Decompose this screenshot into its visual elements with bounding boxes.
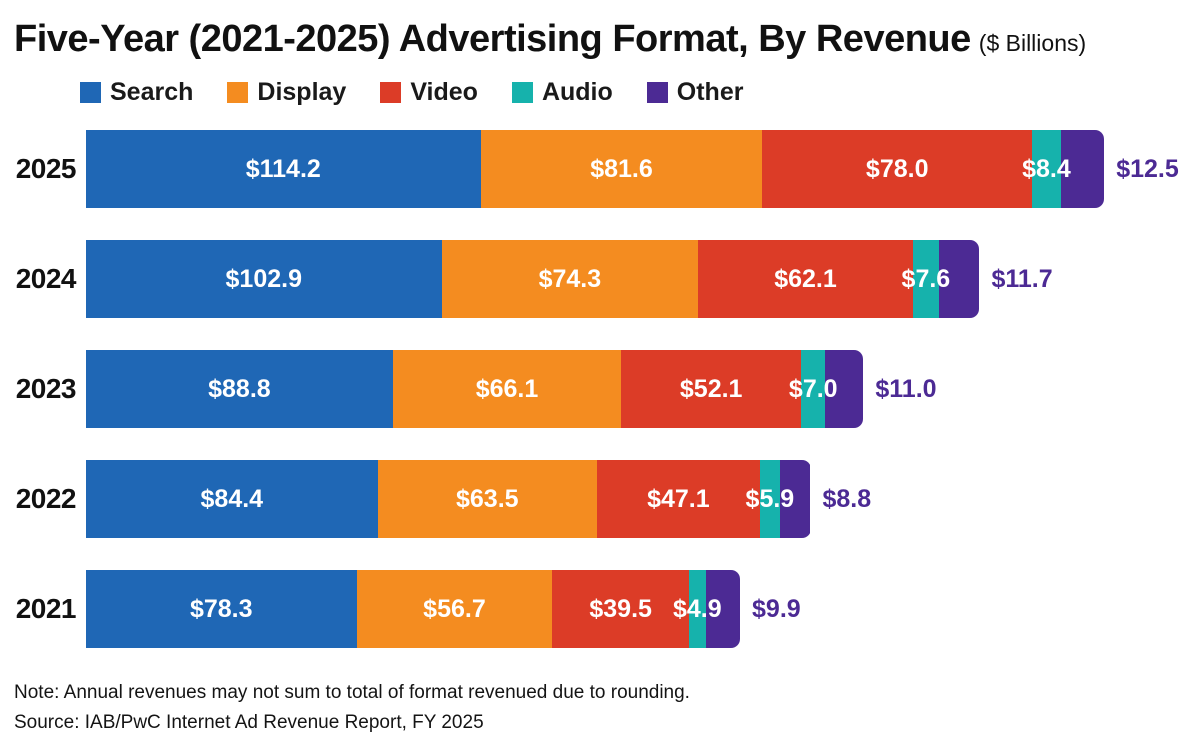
bar-segment-2025-search[interactable]: $114.2: [86, 130, 481, 208]
legend-label: Video: [410, 80, 478, 105]
other-value-label-2021: $9.9: [752, 570, 801, 648]
stacked-bar-2023[interactable]: $88.8$66.1$52.1$7.0: [86, 350, 863, 428]
legend-item-display[interactable]: Display: [227, 80, 346, 105]
legend-label: Other: [677, 80, 744, 105]
legend-swatch-search-icon: [80, 82, 101, 103]
bar-segment-2021-video[interactable]: $39.5: [552, 570, 688, 648]
chart-row-2022: 2022$84.4$63.5$47.1$5.9$8.8: [0, 460, 1200, 538]
bar-segment-2022-audio[interactable]: $5.9: [760, 460, 780, 538]
segment-value-label: $84.4: [201, 487, 264, 512]
bar-segment-2024-video[interactable]: $62.1: [698, 240, 913, 318]
title-main: Five-Year (2021-2025) Advertising Format…: [14, 18, 971, 61]
bar-segment-2021-display[interactable]: $56.7: [357, 570, 553, 648]
other-value-label-2023: $11.0: [875, 350, 936, 428]
bar-segment-2025-display[interactable]: $81.6: [481, 130, 763, 208]
bar-segment-2022-search[interactable]: $84.4: [86, 460, 378, 538]
chart-row-2023: 2023$88.8$66.1$52.1$7.0$11.0: [0, 350, 1200, 428]
segment-value-label: $56.7: [423, 597, 486, 622]
year-label-2025: 2025: [0, 130, 76, 208]
segment-value-label: $4.9: [673, 597, 722, 622]
title-unit: ($ Billions): [979, 30, 1086, 57]
legend-item-audio[interactable]: Audio: [512, 80, 613, 105]
segment-value-label: $62.1: [774, 267, 837, 292]
segment-value-label: $66.1: [476, 377, 539, 402]
legend-item-video[interactable]: Video: [380, 80, 478, 105]
chart-legend: SearchDisplayVideoAudioOther: [80, 80, 743, 105]
page-title: Five-Year (2021-2025) Advertising Format…: [14, 18, 1194, 61]
segment-value-label: $81.6: [590, 157, 653, 182]
segment-value-label: $78.0: [866, 157, 929, 182]
bar-segment-2021-audio[interactable]: $4.9: [689, 570, 706, 648]
legend-label: Display: [257, 80, 346, 105]
segment-value-label: $114.2: [246, 157, 321, 182]
chart-row-2021: 2021$78.3$56.7$39.5$4.9$9.9: [0, 570, 1200, 648]
stacked-bar-2022[interactable]: $84.4$63.5$47.1$5.9: [86, 460, 811, 538]
legend-item-search[interactable]: Search: [80, 80, 193, 105]
segment-value-label: $47.1: [647, 487, 710, 512]
footnote-note: Note: Annual revenues may not sum to tot…: [14, 678, 1114, 708]
bar-segment-2021-search[interactable]: $78.3: [86, 570, 357, 648]
legend-swatch-other-icon: [647, 82, 668, 103]
bar-segment-2024-display[interactable]: $74.3: [442, 240, 699, 318]
bar-segment-2022-display[interactable]: $63.5: [378, 460, 597, 538]
segment-value-label: $63.5: [456, 487, 519, 512]
year-label-2023: 2023: [0, 350, 76, 428]
segment-value-label: $7.0: [789, 377, 838, 402]
segment-value-label: $39.5: [589, 597, 652, 622]
bar-segment-2022-video[interactable]: $47.1: [597, 460, 760, 538]
stacked-bar-2024[interactable]: $102.9$74.3$62.1$7.6: [86, 240, 979, 318]
bar-segment-2024-search[interactable]: $102.9: [86, 240, 442, 318]
segment-value-label: $88.8: [208, 377, 271, 402]
legend-label: Search: [110, 80, 193, 105]
bar-segment-2023-audio[interactable]: $7.0: [801, 350, 825, 428]
segment-value-label: $78.3: [190, 597, 253, 622]
stacked-bar-2025[interactable]: $114.2$81.6$78.0$8.4: [86, 130, 1104, 208]
segment-value-label: $74.3: [539, 267, 602, 292]
legend-swatch-video-icon: [380, 82, 401, 103]
segment-value-label: $102.9: [226, 267, 302, 292]
bar-segment-2023-display[interactable]: $66.1: [393, 350, 621, 428]
chart-row-2025: 2025$114.2$81.6$78.0$8.4$12.5: [0, 130, 1200, 208]
year-label-2024: 2024: [0, 240, 76, 318]
segment-value-label: $52.1: [680, 377, 743, 402]
bar-segment-2025-audio[interactable]: $8.4: [1032, 130, 1061, 208]
legend-item-other[interactable]: Other: [647, 80, 744, 105]
other-value-label-2025: $12.5: [1116, 130, 1179, 208]
legend-swatch-display-icon: [227, 82, 248, 103]
segment-value-label: $8.4: [1022, 157, 1071, 182]
segment-value-label: $7.6: [902, 267, 951, 292]
stacked-bar-chart: 2025$114.2$81.6$78.0$8.4$12.52024$102.9$…: [0, 130, 1200, 670]
legend-swatch-audio-icon: [512, 82, 533, 103]
bar-segment-2024-audio[interactable]: $7.6: [913, 240, 939, 318]
bar-segment-2023-search[interactable]: $88.8: [86, 350, 393, 428]
other-value-label-2022: $8.8: [823, 460, 872, 538]
year-label-2021: 2021: [0, 570, 76, 648]
bar-segment-2025-video[interactable]: $78.0: [762, 130, 1031, 208]
chart-footnotes: Note: Annual revenues may not sum to tot…: [14, 678, 1114, 738]
footnote-source: Source: IAB/PwC Internet Ad Revenue Repo…: [14, 708, 1114, 738]
year-label-2022: 2022: [0, 460, 76, 538]
bar-segment-2023-video[interactable]: $52.1: [621, 350, 801, 428]
segment-value-label: $5.9: [746, 487, 795, 512]
other-value-label-2024: $11.7: [991, 240, 1052, 318]
stacked-bar-2021[interactable]: $78.3$56.7$39.5$4.9: [86, 570, 740, 648]
legend-label: Audio: [542, 80, 613, 105]
chart-row-2024: 2024$102.9$74.3$62.1$7.6$11.7: [0, 240, 1200, 318]
